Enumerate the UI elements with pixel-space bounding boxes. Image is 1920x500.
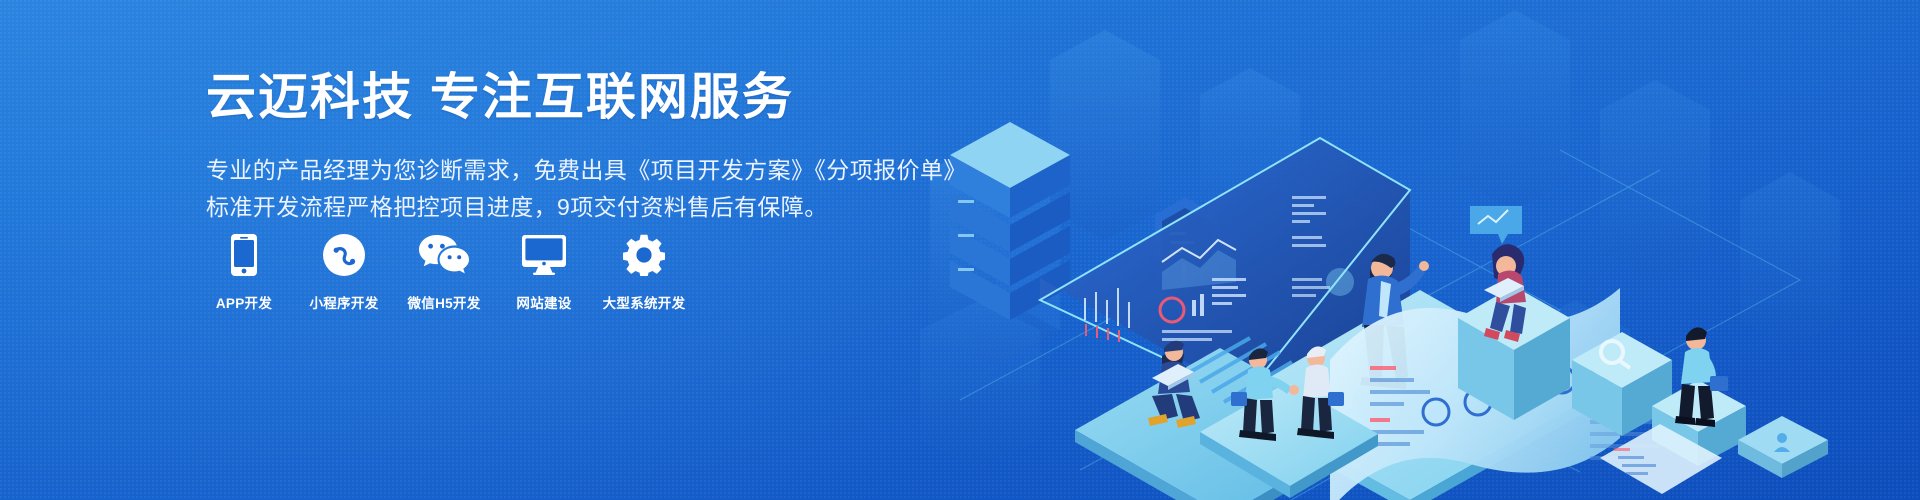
service-label: 小程序开发 — [310, 292, 379, 312]
banner-copy: 云迈科技 专注互联网服务 专业的产品经理为您诊断需求，免费出具《项目开发方案》《… — [206, 68, 966, 227]
service-item-large-system[interactable]: 大型系统开发 — [606, 232, 682, 312]
isometric-illustration — [900, 0, 1920, 500]
service-item-wechat-h5[interactable]: 微信H5开发 — [406, 232, 482, 312]
monitor-icon — [522, 232, 566, 278]
subtitle-line-1: 专业的产品经理为您诊断需求，免费出具《项目开发方案》《分项报价单》 — [206, 152, 966, 189]
service-label: 网站建设 — [516, 292, 571, 312]
service-item-website[interactable]: 网站建设 — [506, 232, 582, 312]
gear-icon — [623, 232, 665, 278]
subtitle-block: 专业的产品经理为您诊断需求，免费出具《项目开发方案》《分项报价单》 标准开发流程… — [206, 152, 966, 227]
wechat-icon — [418, 232, 470, 278]
promotional-banner: 云迈科技 专注互联网服务 专业的产品经理为您诊断需求，免费出具《项目开发方案》《… — [0, 0, 1920, 500]
subtitle-line-2: 标准开发流程严格把控项目进度，9项交付资料售后有保障。 — [206, 189, 966, 226]
service-label: 微信H5开发 — [407, 292, 480, 312]
mobile-phone-icon — [231, 232, 257, 278]
service-list: APP开发 小程序开发 — [206, 232, 682, 312]
service-item-mini-program[interactable]: 小程序开发 — [306, 232, 382, 312]
service-label: APP开发 — [216, 292, 272, 312]
service-label: 大型系统开发 — [603, 292, 686, 312]
mini-program-icon — [323, 232, 365, 278]
chat-bubble-chart — [1470, 206, 1522, 244]
page-title: 云迈科技 专注互联网服务 — [206, 68, 966, 126]
service-item-app[interactable]: APP开发 — [206, 232, 282, 312]
